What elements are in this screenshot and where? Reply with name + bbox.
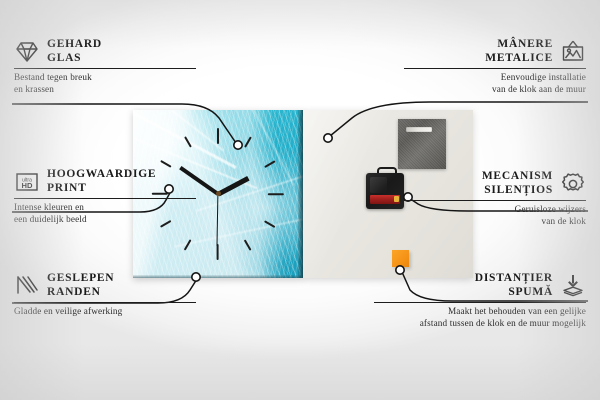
- callout-desc-2: van de klok: [396, 216, 586, 228]
- callout-title: DISTANȚIER: [475, 272, 553, 286]
- picture-hanger-icon: [560, 39, 586, 65]
- callout-title-2: GLAS: [47, 52, 102, 66]
- hanger-slot: [406, 127, 432, 132]
- clock-tick: [184, 240, 191, 251]
- clock-tick: [217, 128, 219, 144]
- clock-second-hand: [216, 193, 218, 245]
- clock-tick: [264, 160, 275, 167]
- clock-tick: [268, 193, 284, 195]
- clock-tick: [244, 240, 251, 251]
- callout-title: MECANISM: [482, 170, 553, 184]
- ultra-hd-icon: ultra HD: [14, 169, 40, 195]
- callout-title-2: SILENȚIOS: [482, 184, 553, 198]
- callout-desc: Bestand tegen breuk: [14, 72, 204, 84]
- callout-rule: [404, 200, 586, 201]
- callout-desc-2: van de klok aan de muur: [396, 84, 586, 96]
- callout-rule: [14, 198, 196, 199]
- svg-text:HD: HD: [22, 181, 33, 190]
- callout-desc-2: afstand tussen de klok en de muur mogeli…: [366, 318, 586, 330]
- clock-tick: [217, 244, 219, 260]
- callout-title-2: METALICE: [485, 52, 553, 66]
- callout-rule: [404, 68, 586, 69]
- clock-hour-hand: [217, 176, 249, 196]
- callout-hoogwaardige-print: ultra HD HOOGWAARDIGE PRINT Intense kleu…: [14, 168, 204, 225]
- clock-tick: [160, 160, 171, 167]
- clock-center-cap: [216, 191, 221, 196]
- clock-tick: [184, 136, 191, 147]
- callout-desc: Gladde en veilige afwerking: [14, 306, 204, 318]
- callout-rule: [374, 302, 586, 303]
- callout-distantier-spuma: DISTANȚIER SPUMĂ Maakt het behouden van …: [366, 272, 586, 329]
- callout-title-2: SPUMĂ: [475, 286, 553, 300]
- callout-title: GEHARD: [47, 38, 102, 52]
- callout-desc: Geruisloze wijzers: [396, 204, 586, 216]
- callout-desc: Intense kleuren en: [14, 202, 204, 214]
- gear-icon: [560, 171, 586, 197]
- callout-mecanism-silentios: MECANISM SILENȚIOS Geruisloze wijzers va…: [396, 170, 586, 227]
- callout-desc: Eenvoudige installatie: [396, 72, 586, 84]
- infographic-canvas: GEHARD GLAS Bestand tegen breuk en krass…: [0, 0, 600, 400]
- callout-desc-2: een duidelijk beeld: [14, 214, 204, 226]
- callout-title-2: RANDEN: [47, 286, 114, 300]
- callout-rule: [14, 302, 196, 303]
- clock-tick: [264, 220, 275, 227]
- metal-hanger-plate: [398, 119, 446, 169]
- callout-title-2: PRINT: [47, 182, 156, 196]
- callout-desc: Maakt het behouden van een gelijke: [366, 306, 586, 318]
- callout-manere-metalice: MÂNERE METALICE Eenvoudige installatie v…: [396, 38, 586, 95]
- callout-desc-2: en krassen: [14, 84, 204, 96]
- callout-gehard-glas: GEHARD GLAS Bestand tegen breuk en krass…: [14, 38, 204, 95]
- clock-tick: [244, 136, 251, 147]
- diamond-icon: [14, 39, 40, 65]
- callout-title: HOOGWAARDIGE: [47, 168, 156, 182]
- spacer-arrow-icon: [560, 273, 586, 299]
- callout-geslepen-randen: GESLEPEN RANDEN Gladde en veilige afwerk…: [14, 272, 204, 318]
- callout-rule: [14, 68, 196, 69]
- callout-title: MÂNERE: [485, 38, 553, 52]
- beveled-edges-icon: [14, 273, 40, 299]
- callout-title: GESLEPEN: [47, 272, 114, 286]
- foam-spacer: [392, 250, 409, 267]
